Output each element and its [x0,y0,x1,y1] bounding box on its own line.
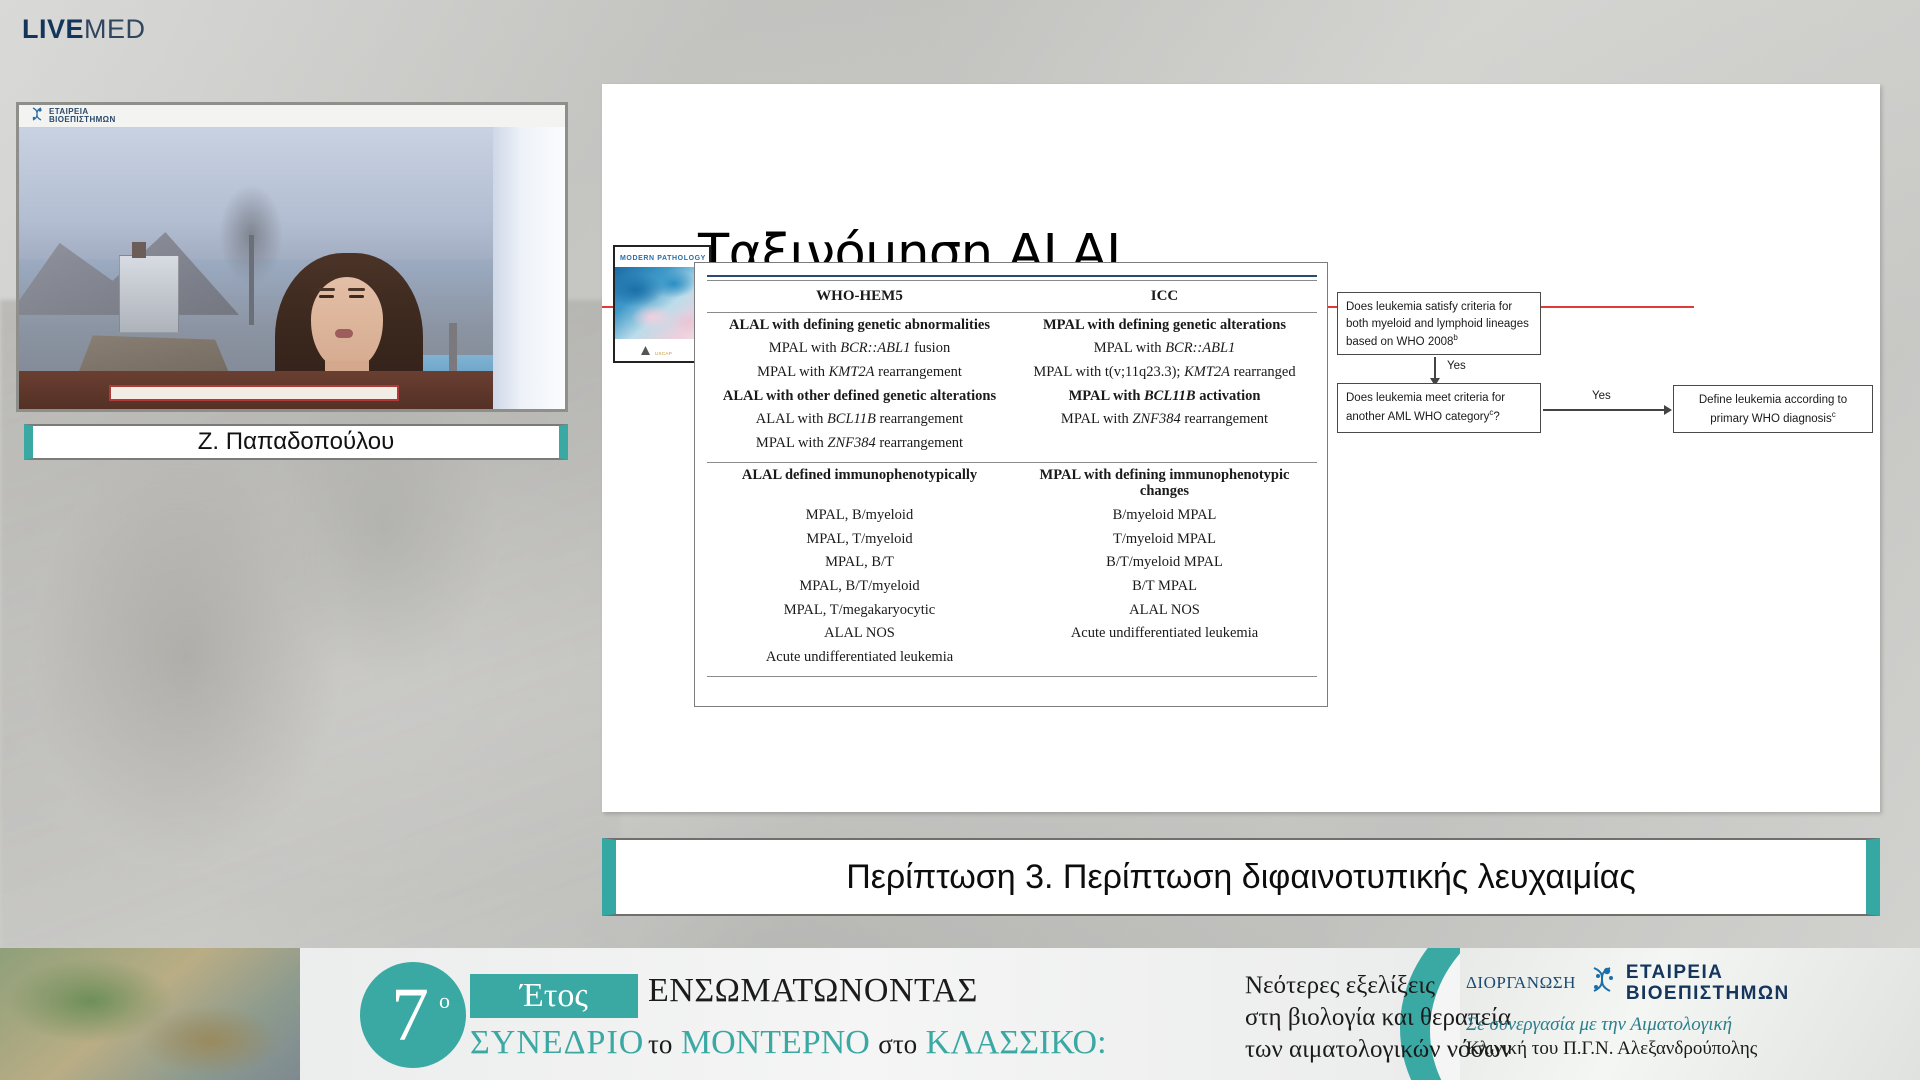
cell-right: T/myeloid MPAL [1012,527,1317,551]
flowchart-box3-line1: Define leukemia according to [1682,392,1864,409]
section-heading-right: MPAL with defining immunophenotypic chan… [1012,463,1317,503]
video-overlay-header: ΕΤΑΙΡΕΙΑ ΒΙΟΕΠΙΣΤΗΜΩΝ [19,105,565,127]
speaker-name-label: Ζ. Παπαδοπούλου [198,428,394,456]
banner-theme-klassiko: ΚΛΑΣΣΙΚΟ: [926,1024,1107,1061]
table-row: MPAL with BCR::ABL1 fusion MPAL with BCR… [707,337,1317,361]
cell-left: Acute undifferentiated leukemia [707,645,1012,669]
cell-left: MPAL, B/myeloid [707,503,1012,527]
banner-organizer-label: ΔΙΟΡΓΑΝΩΣΗ [1466,973,1576,993]
banner-artwork-left [0,948,300,1080]
cell-right: B/T MPAL [1012,574,1317,598]
table-row: MPAL, T/megakaryocytic ALAL NOS [707,598,1317,622]
table-row: MPAL with ZNF384 rearrangement [707,431,1317,455]
table-row: MPAL, B/myeloid B/myeloid MPAL [707,503,1317,527]
cell-left: ALAL with BCL11B rearrangement [707,408,1012,432]
banner-theme-moderno: ΜΟΝΤΕΡΝΟ [681,1024,870,1061]
banner-org-line1: ΕΤΑΙΡΕΙΑ [1626,962,1790,983]
cell-left: MPAL, T/megakaryocytic [707,598,1012,622]
banner-etos-box: Έτος [470,974,638,1018]
banner-synedrio-text: ΣΥΝΕΔΡΙΟ [470,1024,644,1062]
banner-organizer-block: ΔΙΟΡΓΑΝΩΣΗ ΕΤΑΙΡΕΙΑ ΒΙΟΕΠΙΣΤΗΜΩΝ Σε συνε… [1466,962,1896,1062]
table-row: Acute undifferentiated leukemia [707,645,1317,669]
table-row: MPAL with KMT2A rearrangement MPAL with … [707,360,1317,384]
cell-left: MPAL, B/T [707,551,1012,575]
banner-etos-text: Έτος [520,977,588,1015]
flowchart-box3-sup: c [1832,410,1836,419]
podium [19,371,499,412]
session-caption-text: Περίπτωση 3. Περίπτωση διφαινοτυπικής λε… [846,858,1636,897]
flowchart-box2-tail: ? [1493,411,1499,423]
table-row: ALAL with defining genetic abnormalities… [707,313,1317,337]
flowchart-box-criteria: Does leukemia satisfy criteria for both … [1337,292,1541,355]
section-heading-left: ALAL with defining genetic abnormalities [707,313,1012,337]
classification-table: WHO-HEM5 ICC ALAL with defining genetic … [694,262,1328,707]
cell-left: ALAL NOS [707,622,1012,646]
cell-right: B/T/myeloid MPAL [1012,551,1317,575]
section-heading-left: ALAL defined immunophenotypically [707,463,1012,503]
table-col-header-who: WHO-HEM5 [707,288,1012,305]
table-row: ALAL defined immunophenotypically MPAL w… [707,463,1317,503]
banner-theme-to: το [648,1029,672,1059]
section-heading-right: MPAL with BCL11B activation [1012,384,1317,408]
speaker-video[interactable]: ΕΤΑΙΡΕΙΑ ΒΙΟΕΠΙΣΤΗΜΩΝ [16,102,568,412]
flowchart-box-aml-category: Does leukemia meet criteria for another … [1337,383,1541,433]
section-heading-left: ALAL with other defined genetic alterati… [707,384,1012,408]
dna-helix-icon [1586,966,1616,1000]
banner-coop-line2: Κλινική του Π.Γ.Ν. Αλεξανδρούπολης [1466,1037,1896,1062]
table-row: ALAL NOS Acute undifferentiated leukemia [707,622,1317,646]
flowchart-arrow-right [1543,409,1665,411]
video-org-line2: ΒΙΟΕΠΙΣΤΗΜΩΝ [49,116,116,124]
cell-right [1012,645,1317,669]
journal-title: MODERN PATHOLOGY [620,255,706,262]
speaker-name-bar: Ζ. Παπαδοπούλου [24,424,568,460]
banner-edition-sup: ο [439,988,450,1014]
cell-right: MPAL with t(v;11q23.3); KMT2A rearranged [1012,360,1317,384]
banner-coop-line1: Σε συνεργασία με την Αιματολογική [1466,1013,1896,1038]
table-row: MPAL, B/T B/T/myeloid MPAL [707,551,1317,575]
table-row: MPAL, B/T/myeloid B/T MPAL [707,574,1317,598]
flowchart-yes-label-2: Yes [1592,390,1611,402]
cell-right: MPAL with BCR::ABL1 [1012,337,1317,361]
cell-left: MPAL with BCR::ABL1 fusion [707,337,1012,361]
flowchart-arrow-down [1434,357,1436,379]
journal-publisher: USCAP [655,351,672,356]
table-header-row: WHO-HEM5 ICC [707,281,1317,312]
flowchart-box2-text: Does leukemia meet criteria for another … [1346,392,1505,423]
cell-right: B/myeloid MPAL [1012,503,1317,527]
video-right-wall [493,127,565,412]
cell-right: Acute undifferentiated leukemia [1012,622,1317,646]
dna-icon [29,107,45,125]
banner-edition-number: 7 [391,977,429,1053]
cell-left: MPAL, B/T/myeloid [707,574,1012,598]
logo-med-text: MED [84,14,146,44]
flowchart-box3-line2: primary WHO diagnosis [1710,413,1831,425]
banner-theme-sto: στο [878,1029,917,1059]
cell-right [1012,431,1317,455]
backdrop-painting [19,127,499,412]
conference-banner: 7 ο Έτος ΣΥΝΕΔΡΙΟ ΕΝΣΩΜΑΤΩΝΟΝΤΑΣ το ΜΟΝΤ… [0,948,1920,1080]
flowchart-yes-label-1: Yes [1447,360,1466,372]
banner-theme-line2: το ΜΟΝΤΕΡΝΟ στο ΚΛΑΣΣΙΚΟ: [648,1024,1107,1062]
cell-left: MPAL with KMT2A rearrangement [707,360,1012,384]
flowchart-box1-text: Does leukemia satisfy criteria for both … [1346,301,1529,348]
table-row: ALAL with BCL11B rearrangement MPAL with… [707,408,1317,432]
cell-left: MPAL, T/myeloid [707,527,1012,551]
table-row: MPAL, T/myeloid T/myeloid MPAL [707,527,1317,551]
flowchart-box1-sup: b [1453,333,1457,342]
banner-org-line2: ΒΙΟΕΠΙΣΤΗΜΩΝ [1626,983,1790,1004]
session-caption-bar: Περίπτωση 3. Περίπτωση διφαινοτυπικής λε… [602,838,1880,916]
section-heading-right: MPAL with defining genetic alterations [1012,313,1317,337]
banner-edition-badge: 7 ο [360,962,466,1068]
logo-live-text: LIVE [22,14,84,44]
livemed-logo: LIVEMED [22,14,146,45]
cell-left: MPAL with ZNF384 rearrangement [707,431,1012,455]
banner-theme-line1: ΕΝΣΩΜΑΤΩΝΟΝΤΑΣ [648,972,978,1010]
flowchart-box-define-leukemia: Define leukemia according to primary WHO… [1673,385,1873,433]
cell-right: MPAL with ZNF384 rearrangement [1012,408,1317,432]
cell-right: ALAL NOS [1012,598,1317,622]
table-row: ALAL with other defined genetic alterati… [707,384,1317,408]
table-col-header-icc: ICC [1012,288,1317,305]
